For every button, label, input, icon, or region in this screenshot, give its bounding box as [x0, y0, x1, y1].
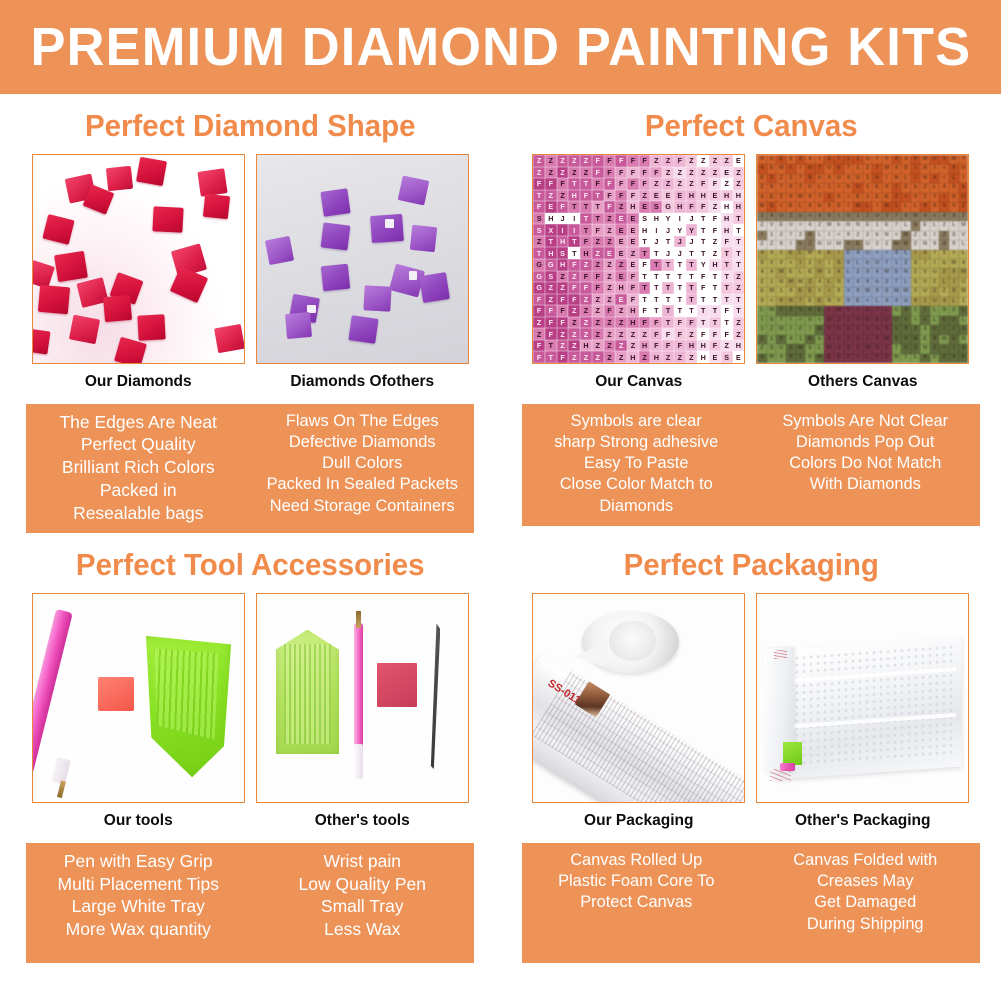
canvas-symbol-cell: T [674, 294, 686, 306]
canvas-symbol-cell: V [882, 183, 892, 192]
canvas-symbol-cell: Z [709, 201, 721, 213]
canvas-symbol-cell: M [882, 335, 892, 344]
canvas-symbol-cell: b [834, 221, 844, 230]
panel-line: Small Tray [252, 895, 472, 918]
image-card-our-canvas[interactable]: ZZZZZFFFFFZZFZZZZEZZZZZFFFFFFZZZZZEZFFFT… [532, 154, 745, 364]
text-col-ours-packaging: Canvas Rolled UpPlastic Foam Core ToProt… [522, 850, 751, 954]
canvas-symbol-cell: Z [580, 351, 592, 363]
canvas-symbol-cell: 4 [863, 325, 873, 334]
canvas-symbol-cell: 9 [930, 240, 940, 249]
canvas-symbol-cell: 1 [767, 335, 777, 344]
canvas-symbol-cell: L [824, 278, 834, 287]
canvas-symbol-cell: T [709, 282, 721, 294]
canvas-symbol-cell: < [824, 287, 834, 296]
canvas-symbol-cell: T [568, 236, 580, 248]
canvas-symbol-cell: E [615, 213, 627, 225]
canvas-symbol-cell: M [796, 278, 806, 287]
image-card-our-packaging[interactable]: SS-011 [532, 593, 745, 803]
canvas-symbol-cell: I [834, 250, 844, 259]
canvas-symbol-cell: E [721, 167, 733, 179]
canvas-symbol-cell: T [533, 190, 545, 202]
canvas-symbol-cell: S [872, 325, 882, 334]
caption-others-canvas: Others Canvas [756, 374, 969, 390]
canvas-symbol-cell: 4 [939, 240, 949, 249]
canvas-symbol-cell: V [844, 240, 854, 249]
canvas-symbol-cell: T [686, 294, 698, 306]
canvas-symbol-cell: Z [568, 328, 580, 340]
canvas-symbol-cell: I [930, 259, 940, 268]
canvas-symbol-cell: F [604, 305, 616, 317]
canvas-symbol-cell: H [686, 190, 698, 202]
canvas-symbol-cell: F [686, 201, 698, 213]
canvas-symbol-cell: H [709, 259, 721, 271]
canvas-symbol-cell: L [959, 240, 969, 249]
canvas-symbol-cell: I [757, 231, 767, 240]
canvas-symbol-cell: 2 [853, 268, 863, 277]
canvas-symbol-cell: Z [627, 247, 639, 259]
panel-line: Symbols Are Not Clear [753, 411, 978, 432]
canvas-symbol-cell: S [834, 202, 844, 211]
canvas-symbol-cell: Z [533, 155, 545, 167]
canvas-symbol-cell: E [853, 193, 863, 202]
canvas-symbol-cell: 4 [920, 354, 930, 363]
canvas-symbol-cell: Z [674, 167, 686, 179]
canvas-symbol-cell: I [882, 174, 892, 183]
canvas-symbol-cell: 7 [959, 155, 969, 164]
canvas-symbol-cell: T [568, 247, 580, 259]
canvas-symbol-cell: E [805, 268, 815, 277]
canvas-symbol-cell: U [949, 335, 959, 344]
canvas-symbol-cell: N [901, 268, 911, 277]
canvas-symbol-cell: E [872, 183, 882, 192]
canvas-symbol-cell: Z [844, 354, 854, 363]
canvas-symbol-cell: F [650, 167, 662, 179]
canvas-symbol-cell: F [650, 340, 662, 352]
canvas-symbol-cell: F [533, 340, 545, 352]
canvas-symbol-cell: T [662, 271, 674, 283]
canvas-symbol-cell: E [939, 316, 949, 325]
canvas-symbol-cell: M [776, 164, 786, 173]
canvas-symbol-cell: Z [939, 231, 949, 240]
canvas-symbol-cell: 4 [892, 297, 902, 306]
canvas-symbol-cell: N [892, 354, 902, 363]
canvas-symbol-cell: F [721, 236, 733, 248]
canvas-symbol-cell: < [796, 316, 806, 325]
canvas-symbol-cell: E [863, 221, 873, 230]
canvas-symbol-cell: I [815, 259, 825, 268]
canvas-symbol-cell: M [911, 335, 921, 344]
canvas-symbol-cell: 4 [786, 335, 796, 344]
canvas-symbol-cell: M [757, 202, 767, 211]
canvas-symbol-cell: S [834, 259, 844, 268]
canvas-symbol-cell: Z [592, 236, 604, 248]
canvas-symbol-cell: 1 [853, 164, 863, 173]
canvas-symbol-cell: U [882, 316, 892, 325]
canvas-symbol-cell: Z [697, 155, 709, 167]
canvas-symbol-cell: Z [662, 351, 674, 363]
canvas-symbol-cell: F [674, 317, 686, 329]
canvas-symbol-cell: S [911, 259, 921, 268]
canvas-symbol-cell: V [930, 325, 940, 334]
panel-line: Protect Canvas [524, 892, 749, 913]
canvas-symbol-cell: < [815, 316, 825, 325]
canvas-symbol-cell: 7 [834, 155, 844, 164]
image-card-others-diamonds[interactable] [256, 154, 469, 364]
card-pair-packaging: SS-011 [501, 593, 1001, 803]
canvas-symbol-cell: T [697, 213, 709, 225]
canvas-symbol-cell: E [615, 224, 627, 236]
canvas-symbol-cell: 4 [767, 212, 777, 221]
canvas-symbol-cell: 2 [834, 316, 844, 325]
canvas-symbol-cell: Z [639, 190, 651, 202]
canvas-symbol-cell: Z [615, 340, 627, 352]
blurry-multicolor-canvas-photo: SbE224I2712U7V449MUVM74EMIIU7Ub71Z7M4SIN… [757, 155, 968, 363]
canvas-symbol-cell: Z [686, 178, 698, 190]
canvas-symbol-cell: F [604, 190, 616, 202]
canvas-symbol-cell: S [767, 183, 777, 192]
canvas-symbol-cell: N [882, 231, 892, 240]
canvas-symbol-cell: T [580, 201, 592, 213]
drill-pen-icon [354, 623, 363, 756]
canvas-symbol-cell: 1 [757, 325, 767, 334]
image-card-others-canvas[interactable]: SbE224I2712U7V449MUVM74EMIIU7Ub71Z7M4SIN… [756, 154, 969, 364]
panel-line: sharp Strong adhesive [524, 432, 749, 453]
canvas-symbol-cell: M [815, 268, 825, 277]
canvas-symbol-cell: U [901, 297, 911, 306]
canvas-symbol-cell: Z [615, 305, 627, 317]
canvas-symbol-cell: Z [580, 294, 592, 306]
canvas-symbol-cell: J [686, 213, 698, 225]
canvas-symbol-cell: U [892, 306, 902, 315]
header-banner: PREMIUM DIAMOND PAINTING KITS [0, 0, 1001, 94]
canvas-symbol-cell: F [721, 305, 733, 317]
canvas-symbol-cell: S [920, 231, 930, 240]
canvas-symbol-cell: I [939, 325, 949, 334]
canvas-symbol-cell: Z [805, 278, 815, 287]
section-packaging: Perfect Packaging SS-011 [501, 533, 1001, 963]
canvas-symbol-cell: Z [580, 328, 592, 340]
canvas-symbol-cell: T [709, 294, 721, 306]
canvas-symbol-cell: 9 [786, 287, 796, 296]
canvas-symbol-cell: T [697, 317, 709, 329]
canvas-symbol-cell: 9 [776, 240, 786, 249]
canvas-symbol-cell: Z [639, 351, 651, 363]
canvas-symbol-cell: 9 [892, 335, 902, 344]
canvas-symbol-cell: < [863, 297, 873, 306]
canvas-symbol-cell: 9 [844, 259, 854, 268]
canvas-symbol-cell: S [757, 155, 767, 164]
canvas-symbol-cell: E [882, 193, 892, 202]
panel-line: Flaws On The Edges [252, 411, 472, 432]
canvas-symbol-cell: < [882, 250, 892, 259]
canvas-symbol-cell: S [863, 316, 873, 325]
canvas-symbol-cell: Z [662, 167, 674, 179]
canvas-symbol-cell: E [767, 193, 777, 202]
canvas-symbol-cell: M [939, 335, 949, 344]
canvas-symbol-cell: 2 [882, 354, 892, 363]
image-card-our-diamonds[interactable] [32, 154, 245, 364]
canvas-symbol-cell: 2 [796, 183, 806, 192]
canvas-symbol-cell: 4 [776, 354, 786, 363]
canvas-symbol-cell: I [949, 344, 959, 353]
canvas-symbol-cell: U [920, 287, 930, 296]
canvas-symbol-cell: M [959, 268, 969, 277]
canvas-symbol-cell: Z [920, 193, 930, 202]
canvas-symbol-cell: 7 [892, 344, 902, 353]
canvas-symbol-cell: F [604, 178, 616, 190]
canvas-symbol-cell: Z [533, 317, 545, 329]
canvas-symbol-cell: I [834, 212, 844, 221]
text-panel-canvas: Symbols are clearsharp Strong adhesiveEa… [522, 404, 980, 527]
canvas-symbol-cell: Z [604, 351, 616, 363]
canvas-symbol-cell: H [733, 340, 745, 352]
canvas-symbol-cell: Z [592, 247, 604, 259]
canvas-symbol-cell: T [639, 271, 651, 283]
canvas-symbol-cell: 9 [872, 287, 882, 296]
canvas-symbol-cell: 9 [911, 297, 921, 306]
canvas-symbol-cell: U [853, 174, 863, 183]
canvas-symbol-cell: V [892, 325, 902, 334]
canvas-symbol-cell: Z [733, 282, 745, 294]
canvas-symbol-cell: N [834, 278, 844, 287]
canvas-symbol-cell: 7 [882, 259, 892, 268]
canvas-symbol-cell: H [721, 224, 733, 236]
canvas-symbol-cell: M [882, 268, 892, 277]
canvas-symbol-cell: F [533, 201, 545, 213]
canvas-symbol-cell: S [557, 247, 569, 259]
canvas-symbol-cell: M [863, 344, 873, 353]
canvas-symbol-cell: 4 [853, 250, 863, 259]
canvas-symbol-cell: V [844, 212, 854, 221]
canvas-symbol-cell: F [697, 178, 709, 190]
canvas-symbol-cell: L [939, 278, 949, 287]
canvas-symbol-cell: N [853, 221, 863, 230]
section-title-diamond-shape: Perfect Diamond Shape [13, 94, 488, 154]
canvas-symbol-cell: E [796, 287, 806, 296]
canvas-symbol-cell: L [844, 268, 854, 277]
canvas-symbol-cell: b [844, 325, 854, 334]
canvas-symbol-cell: U [930, 155, 940, 164]
canvas-symbol-cell: 7 [776, 316, 786, 325]
canvas-symbol-cell: L [959, 306, 969, 315]
canvas-symbol-cell: M [796, 344, 806, 353]
canvas-symbol-cell: < [872, 250, 882, 259]
canvas-symbol-cell: T [592, 201, 604, 213]
canvas-symbol-cell: U [824, 316, 834, 325]
canvas-symbol-cell: T [639, 294, 651, 306]
canvas-symbol-cell: F [557, 178, 569, 190]
canvas-symbol-cell: Z [615, 259, 627, 271]
red-square-diamonds-photo [33, 155, 244, 363]
canvas-symbol-cell: G [533, 282, 545, 294]
purple-square-diamonds-photo [257, 155, 468, 363]
canvas-symbol-cell: < [939, 174, 949, 183]
canvas-symbol-cell: < [949, 325, 959, 334]
canvas-symbol-cell: 1 [853, 212, 863, 221]
canvas-symbol-cell: E [767, 164, 777, 173]
canvas-symbol-cell: E [844, 250, 854, 259]
canvas-symbol-cell: S [767, 202, 777, 211]
canvas-symbol-cell: S [767, 316, 777, 325]
canvas-symbol-cell: L [949, 221, 959, 230]
canvas-symbol-cell: 2 [882, 344, 892, 353]
canvas-symbol-cell: V [901, 344, 911, 353]
small-green-tray-pen-wax-tweezers-photo [257, 594, 468, 802]
canvas-symbol-cell: < [767, 297, 777, 306]
canvas-symbol-cell: 9 [901, 335, 911, 344]
canvas-symbol-cell: 7 [815, 193, 825, 202]
image-card-others-tools[interactable] [256, 593, 469, 803]
canvas-symbol-cell: M [882, 202, 892, 211]
canvas-symbol-cell: 4 [805, 155, 815, 164]
canvas-symbol-cell: E [786, 202, 796, 211]
canvas-symbol-cell: 2 [776, 231, 786, 240]
canvas-symbol-cell: Z [627, 328, 639, 340]
canvas-symbol-cell: F [557, 317, 569, 329]
canvas-symbol-cell: 9 [776, 297, 786, 306]
canvas-symbol-cell: J [686, 236, 698, 248]
canvas-symbol-cell: Z [533, 328, 545, 340]
canvas-symbol-cell: 4 [930, 174, 940, 183]
canvas-symbol-cell: 4 [959, 259, 969, 268]
canvas-symbol-cell: L [853, 259, 863, 268]
canvas-symbol-cell: < [796, 221, 806, 230]
canvas-symbol-cell: J [650, 236, 662, 248]
canvas-symbol-cell: F [533, 351, 545, 363]
section-title-packaging: Perfect Packaging [513, 533, 988, 593]
canvas-symbol-cell: Z [686, 167, 698, 179]
canvas-symbol-cell: L [872, 297, 882, 306]
text-col-theirs-diamond-shape: Flaws On The EdgesDefective DiamondsDull… [250, 411, 474, 525]
panel-line: Colors Do Not Match [753, 453, 978, 474]
canvas-symbol-cell: U [930, 297, 940, 306]
text-col-theirs-tools: Wrist painLow Quality PenSmall TrayLess … [250, 850, 474, 954]
canvas-symbol-cell: E [776, 221, 786, 230]
canvas-symbol-cell: V [796, 240, 806, 249]
canvas-symbol-cell: U [834, 174, 844, 183]
canvas-symbol-cell: F [697, 271, 709, 283]
canvas-symbol-cell: Z [615, 317, 627, 329]
canvas-symbol-cell: Z [568, 351, 580, 363]
canvas-symbol-cell: M [834, 306, 844, 315]
canvas-symbol-cell: V [949, 202, 959, 211]
canvas-symbol-cell: F [592, 271, 604, 283]
canvas-symbol-cell: < [939, 164, 949, 173]
panel-line: Low Quality Pen [252, 873, 472, 896]
canvas-symbol-cell: T [662, 236, 674, 248]
canvas-symbol-cell: U [853, 183, 863, 192]
canvas-symbol-cell: J [674, 247, 686, 259]
canvas-symbol-cell: 1 [824, 268, 834, 277]
canvas-symbol-cell: E [786, 268, 796, 277]
canvas-symbol-cell: S [639, 213, 651, 225]
image-card-our-tools[interactable] [32, 593, 245, 803]
canvas-symbol-cell: 4 [767, 268, 777, 277]
canvas-symbol-cell: 7 [872, 306, 882, 315]
canvas-symbol-cell: E [815, 306, 825, 315]
canvas-symbol-cell: 1 [863, 193, 873, 202]
canvas-symbol-cell: S [911, 278, 921, 287]
canvas-symbol-cell: F [721, 328, 733, 340]
canvas-symbol-cell: 2 [767, 174, 777, 183]
canvas-symbol-cell: 2 [853, 344, 863, 353]
canvas-symbol-cell: Z [604, 282, 616, 294]
canvas-symbol-cell: F [662, 328, 674, 340]
canvas-symbol-cell: V [834, 335, 844, 344]
canvas-symbol-cell: T [721, 294, 733, 306]
canvas-symbol-cell: 9 [844, 297, 854, 306]
canvas-symbol-cell: 2 [786, 174, 796, 183]
image-card-others-packaging[interactable] [756, 593, 969, 803]
canvas-symbol-cell: 2 [853, 155, 863, 164]
canvas-symbol-cell: 9 [863, 278, 873, 287]
rolled-canvas-tube-photo: SS-011 [533, 594, 744, 802]
canvas-symbol-cell: I [786, 316, 796, 325]
canvas-symbol-cell: E [882, 221, 892, 230]
canvas-symbol-cell: L [901, 278, 911, 287]
canvas-symbol-cell: U [959, 164, 969, 173]
canvas-symbol-cell: 9 [930, 202, 940, 211]
canvas-symbol-cell: Z [709, 167, 721, 179]
canvas-symbol-cell: S [949, 231, 959, 240]
canvas-symbol-cell: Z [580, 259, 592, 271]
canvas-symbol-cell: F [592, 282, 604, 294]
canvas-symbol-cell: 9 [824, 212, 834, 221]
canvas-symbol-cell: M [767, 354, 777, 363]
canvas-symbol-cell: Z [733, 317, 745, 329]
canvas-symbol-cell: Z [674, 351, 686, 363]
canvas-symbol-cell: F [580, 282, 592, 294]
canvas-symbol-cell: T [592, 190, 604, 202]
canvas-symbol-cell: S [844, 344, 854, 353]
canvas-symbol-cell: M [815, 325, 825, 334]
canvas-symbol-cell: T [639, 282, 651, 294]
canvas-symbol-cell: T [674, 259, 686, 271]
canvas-symbol-cell: S [757, 259, 767, 268]
caption-others-diamonds: Diamonds Ofothers [256, 374, 469, 390]
canvas-symbol-cell: b [911, 221, 921, 230]
canvas-symbol-cell: L [863, 354, 873, 363]
canvas-symbol-cell: 7 [872, 164, 882, 173]
canvas-symbol-cell: L [930, 316, 940, 325]
canvas-symbol-cell: S [805, 316, 815, 325]
canvas-symbol-cell: F [662, 340, 674, 352]
canvas-symbol-cell: Z [796, 325, 806, 334]
canvas-symbol-cell: 9 [853, 287, 863, 296]
canvas-symbol-cell: I [557, 224, 569, 236]
canvas-symbol-cell: 4 [757, 164, 767, 173]
canvas-symbol-cell: M [786, 278, 796, 287]
canvas-symbol-cell: T [533, 247, 545, 259]
canvas-symbol-cell: H [627, 305, 639, 317]
canvas-symbol-cell: F [545, 305, 557, 317]
canvas-symbol-cell: Z [580, 167, 592, 179]
canvas-symbol-cell: V [824, 325, 834, 334]
panel-line: Defective Diamonds [252, 432, 472, 453]
canvas-symbol-cell: E [776, 155, 786, 164]
canvas-symbol-cell: T [568, 201, 580, 213]
canvas-symbol-cell: 4 [824, 335, 834, 344]
canvas-symbol-cell: I [786, 240, 796, 249]
canvas-symbol-cell: S [721, 351, 733, 363]
canvas-symbol-cell: Z [901, 259, 911, 268]
canvas-symbol-cell: < [920, 316, 930, 325]
canvas-symbol-cell: 1 [767, 278, 777, 287]
canvas-symbol-cell: 2 [796, 155, 806, 164]
canvas-symbol-cell: 9 [901, 325, 911, 334]
canvas-symbol-cell: F [615, 155, 627, 167]
canvas-symbol-cell: V [911, 287, 921, 296]
